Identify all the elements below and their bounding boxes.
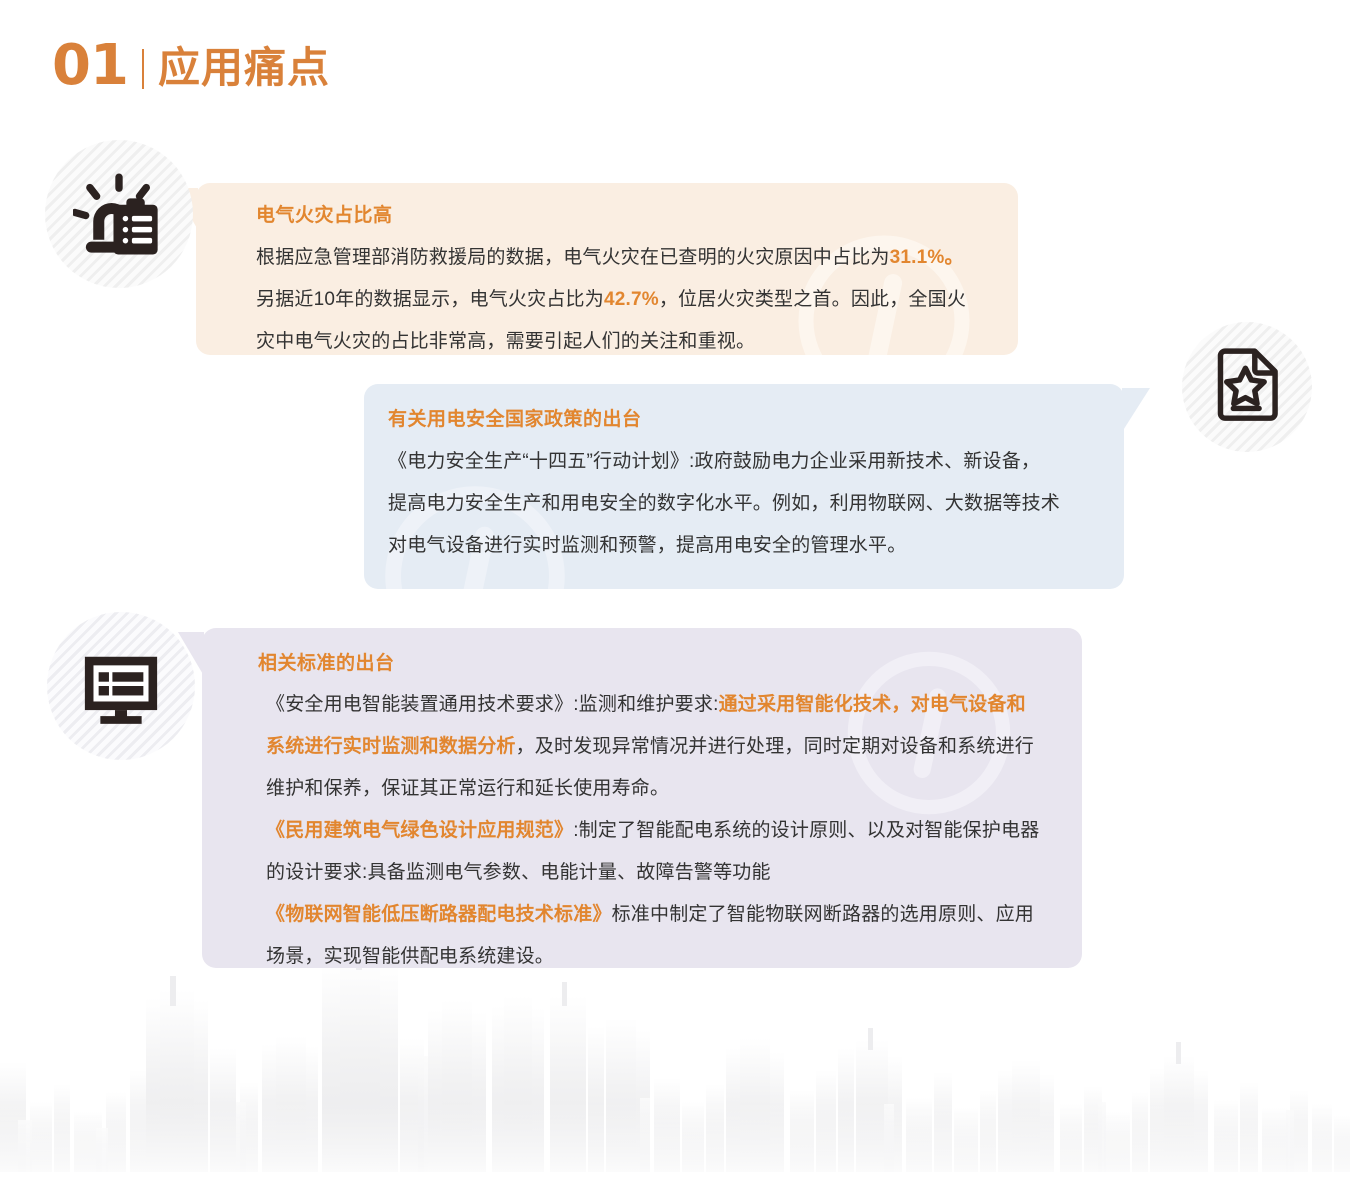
page-title: 01 应用痛点 <box>52 34 330 98</box>
alarm-clipboard-icon-badge <box>45 140 193 288</box>
section-title: 应用痛点 <box>158 47 330 89</box>
monitor-icon-badge <box>47 612 195 760</box>
card-fire-ratio: 电气火灾占比高 根据应急管理部消防救援局的数据，电气火灾在已查明的火灾原因中占比… <box>196 183 1018 355</box>
certificate-icon-badge <box>1182 322 1312 452</box>
card-national-policy: 有关用电安全国家政策的出台 《电力安全生产“十四五”行动计划》:政府鼓励电力企业… <box>364 384 1124 589</box>
slide-page: 01 应用痛点 <box>0 0 1350 1182</box>
card-title: 电气火灾占比高 <box>256 200 1018 227</box>
city-skyline-icon <box>0 952 1350 1182</box>
card-body: 《安全用电智能装置通用技术要求》:监测和维护要求:通过采用智能化技术，对电气设备… <box>266 684 1082 968</box>
monitor-list-icon <box>78 643 164 729</box>
alarm-clipboard-icon <box>73 168 165 260</box>
card-title: 有关用电安全国家政策的出台 <box>388 404 1124 431</box>
bubble-tail-2 <box>1122 388 1150 432</box>
card-title: 相关标准的出台 <box>258 648 1082 675</box>
card-standards: 相关标准的出台 《安全用电智能装置通用技术要求》:监测和维护要求:通过采用智能化… <box>202 628 1082 968</box>
card-body: 《电力安全生产“十四五”行动计划》:政府鼓励电力企业采用新技术、新设备， 提高电… <box>388 441 1124 567</box>
title-divider <box>142 49 144 89</box>
section-number: 01 <box>52 38 128 94</box>
certificate-star-document-icon <box>1208 348 1286 426</box>
card-body: 根据应急管理部消防救援局的数据，电气火灾在已查明的火灾原因中占比为31.1%。 … <box>256 237 1018 355</box>
